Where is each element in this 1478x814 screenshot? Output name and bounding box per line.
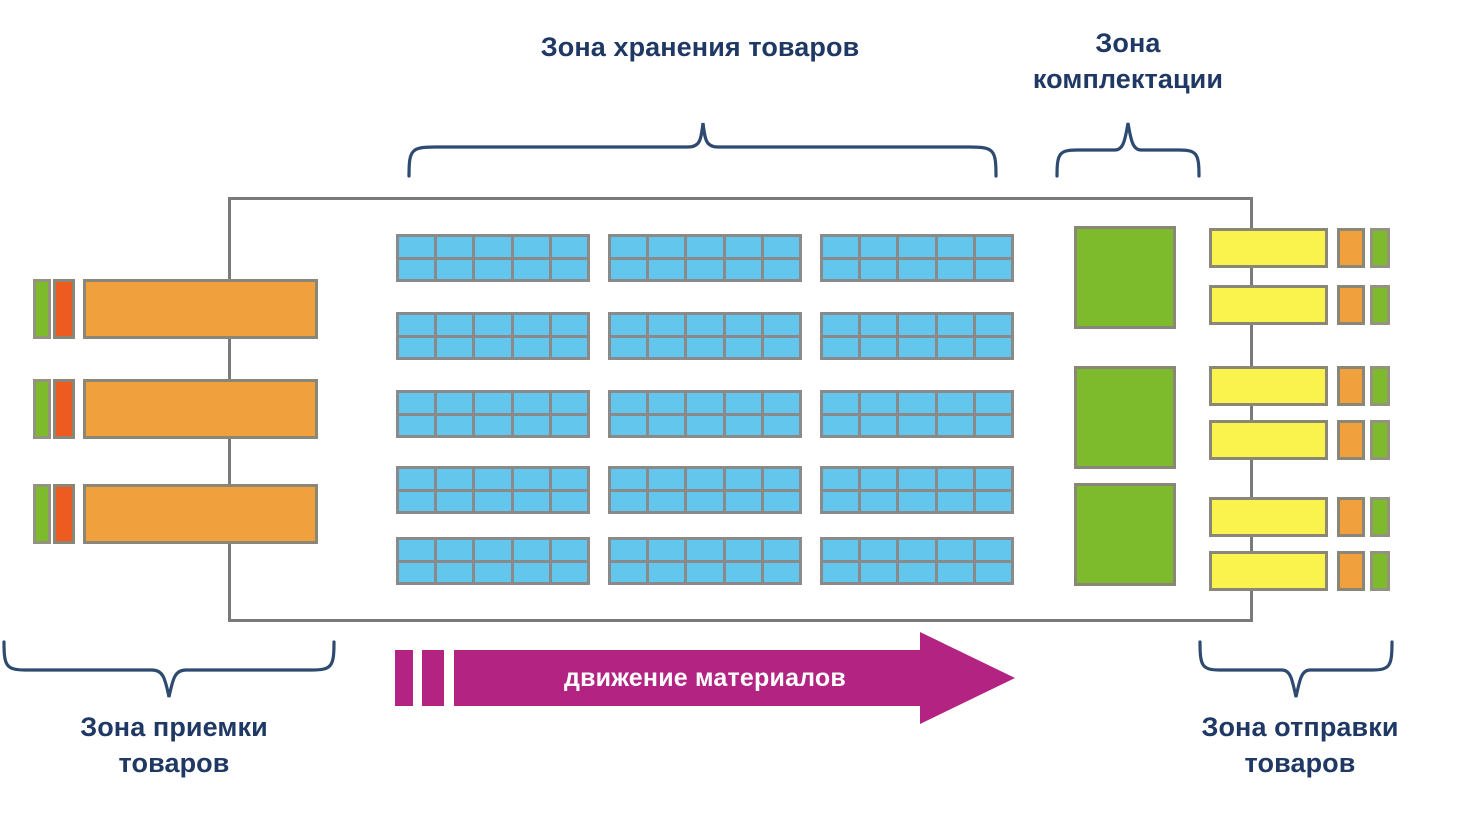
storage-rack bbox=[820, 466, 1014, 514]
receiving-dock-1-red-bar bbox=[53, 279, 75, 339]
storage-rack bbox=[608, 234, 802, 282]
shipping-dock-green-bar bbox=[1370, 497, 1390, 537]
label-receiving-zone: Зона приемки товаров bbox=[24, 710, 324, 781]
storage-rack bbox=[396, 466, 590, 514]
shipping-dock-orange-square bbox=[1337, 285, 1365, 325]
shipping-dock-bar bbox=[1209, 228, 1328, 268]
shipping-dock-orange-square bbox=[1337, 420, 1365, 460]
picking-station bbox=[1074, 226, 1176, 329]
receiving-dock-3-green-bar bbox=[33, 484, 51, 544]
shipping-dock-orange-square bbox=[1337, 551, 1365, 591]
shipping-dock-green-bar bbox=[1370, 551, 1390, 591]
shipping-dock-green-bar bbox=[1370, 285, 1390, 325]
shipping-dock-green-bar bbox=[1370, 228, 1390, 268]
storage-rack bbox=[820, 312, 1014, 360]
receiving-dock-1-bar bbox=[83, 279, 318, 339]
shipping-dock-green-bar bbox=[1370, 366, 1390, 406]
label-shipping-zone: Зона отправки товаров bbox=[1150, 710, 1450, 781]
flow-arrow-dash-1 bbox=[395, 650, 413, 706]
storage-rack bbox=[396, 537, 590, 585]
receiving-dock-1-green-bar bbox=[33, 279, 51, 339]
brace-receiving-zone bbox=[0, 640, 340, 700]
storage-rack bbox=[608, 466, 802, 514]
label-picking-zone: Зона комплектации bbox=[1000, 26, 1256, 97]
picking-station bbox=[1074, 483, 1176, 586]
shipping-dock-green-bar bbox=[1370, 420, 1390, 460]
shipping-dock-orange-square bbox=[1337, 497, 1365, 537]
storage-rack bbox=[820, 234, 1014, 282]
storage-rack bbox=[396, 234, 590, 282]
shipping-dock-bar bbox=[1209, 366, 1328, 406]
storage-rack bbox=[396, 390, 590, 438]
picking-station bbox=[1074, 366, 1176, 469]
shipping-dock-orange-square bbox=[1337, 366, 1365, 406]
receiving-dock-3-red-bar bbox=[53, 484, 75, 544]
storage-rack bbox=[820, 390, 1014, 438]
label-storage-zone: Зона хранения товаров bbox=[430, 30, 970, 66]
storage-rack bbox=[608, 390, 802, 438]
warehouse-layout-diagram: Зона хранения товаров Зона комплектации bbox=[0, 0, 1478, 814]
shipping-dock-bar bbox=[1209, 285, 1328, 325]
brace-storage-zone bbox=[405, 120, 1000, 178]
shipping-dock-orange-square bbox=[1337, 228, 1365, 268]
receiving-dock-2-red-bar bbox=[53, 379, 75, 439]
flow-arrow-dash-2 bbox=[422, 650, 444, 706]
shipping-dock-bar bbox=[1209, 420, 1328, 460]
receiving-dock-2-green-bar bbox=[33, 379, 51, 439]
storage-rack bbox=[608, 312, 802, 360]
receiving-dock-3-bar bbox=[83, 484, 318, 544]
receiving-dock-2-bar bbox=[83, 379, 318, 439]
storage-rack bbox=[820, 537, 1014, 585]
storage-rack bbox=[608, 537, 802, 585]
brace-picking-zone bbox=[1053, 120, 1203, 178]
storage-rack bbox=[396, 312, 590, 360]
shipping-dock-bar bbox=[1209, 551, 1328, 591]
shipping-dock-bar bbox=[1209, 497, 1328, 537]
material-flow-arrow: движение материалов bbox=[395, 650, 1015, 706]
brace-shipping-zone bbox=[1196, 640, 1396, 700]
flow-arrow-head bbox=[920, 632, 1015, 724]
flow-arrow-body bbox=[454, 650, 934, 706]
